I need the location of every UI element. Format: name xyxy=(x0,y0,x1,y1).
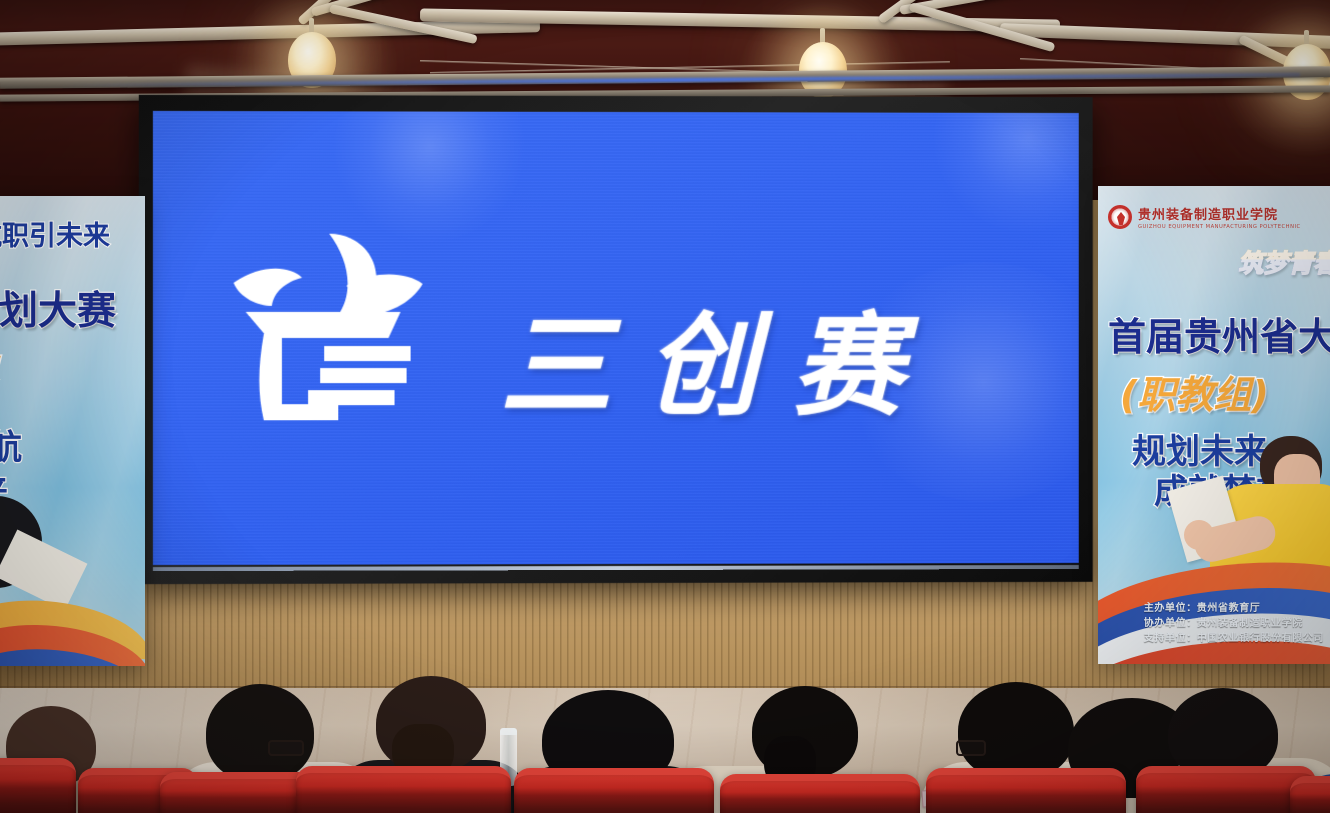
auditorium-seat[interactable] xyxy=(1290,776,1330,813)
banner-left: 启航职引未来 规划大赛 赛 启航 未来 院 限公司贵州省分行 xyxy=(0,196,145,666)
credit-line-coorganizer: 协办单位：贵州装备制造职业学院 xyxy=(1144,616,1324,631)
auditorium-seat[interactable] xyxy=(514,768,714,813)
banner-left-headline: 规划大赛 xyxy=(0,280,116,336)
audience-area: 词 xyxy=(0,640,1330,813)
banner-headline: 首届贵州省大学生 xyxy=(1108,306,1330,361)
screen-title: 三创赛 xyxy=(500,297,1078,437)
banner-left-top-line: 启航职引未来 xyxy=(0,214,110,253)
torch-book-emblem xyxy=(228,228,444,429)
banner-tagline: 筑梦青春 xyxy=(1238,244,1330,280)
audience-glasses xyxy=(268,740,304,756)
auditorium-seat[interactable] xyxy=(0,758,76,813)
audience-glasses xyxy=(956,740,986,756)
auditorium-seat[interactable] xyxy=(1136,766,1316,813)
audience-head xyxy=(206,684,314,782)
banner-subhead: (职教组) xyxy=(1120,364,1269,419)
illustration-hand xyxy=(1184,520,1214,550)
banner-school-name-en: GUIZHOU EQUIPMENT MANUFACTURING POLYTECH… xyxy=(1138,224,1301,230)
school-seal-icon xyxy=(1108,205,1132,229)
screen-hotspot xyxy=(334,111,525,242)
auditorium-screenshot: 三创赛 贵州装备制造职业学院 GUIZHOU EQUIPMENT MANUFAC… xyxy=(0,0,1330,813)
banner-left-slogan-line1: 启航 xyxy=(0,420,22,469)
led-screen-frame: 三创赛 xyxy=(139,95,1093,584)
credit-line-organizer: 主办单位：贵州省教育厅 xyxy=(1144,601,1324,616)
led-screen[interactable]: 三创赛 xyxy=(153,111,1079,565)
audience-head xyxy=(958,682,1074,780)
banner-school-logo: 贵州装备制造职业学院 GUIZHOU EQUIPMENT MANUFACTURI… xyxy=(1108,204,1301,230)
auditorium-seat[interactable] xyxy=(720,774,920,813)
auditorium-seat[interactable] xyxy=(926,768,1126,813)
banner-school-name-cn: 贵州装备制造职业学院 xyxy=(1138,204,1301,223)
auditorium-seat[interactable] xyxy=(296,766,511,813)
banner-right: 贵州装备制造职业学院 GUIZHOU EQUIPMENT MANUFACTURI… xyxy=(1098,186,1330,664)
screen-hotspot xyxy=(934,111,1079,233)
screen-bottom-light xyxy=(153,565,1079,571)
